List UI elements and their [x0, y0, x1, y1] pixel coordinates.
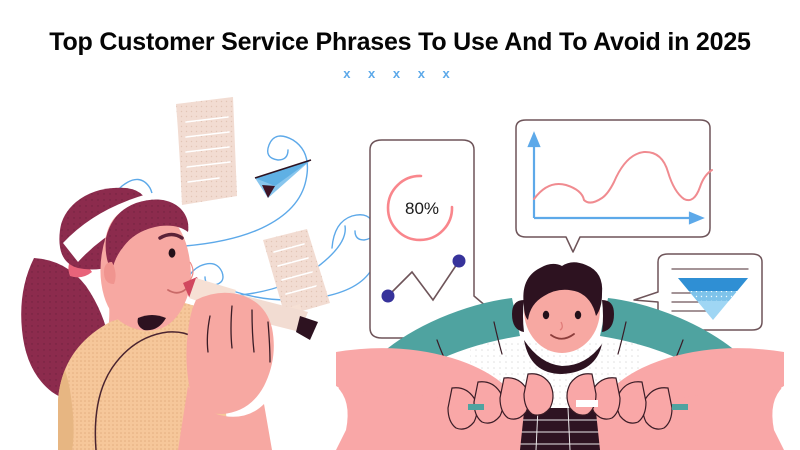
woman-writer-figure — [21, 188, 318, 450]
bubble-trend — [516, 120, 712, 252]
paper-sheet-upper — [176, 97, 237, 205]
illustration: 80% — [0, 0, 800, 450]
donut-chart-label: 80% — [405, 199, 439, 218]
poster-canvas: Top Customer Service Phrases To Use And … — [0, 0, 800, 450]
